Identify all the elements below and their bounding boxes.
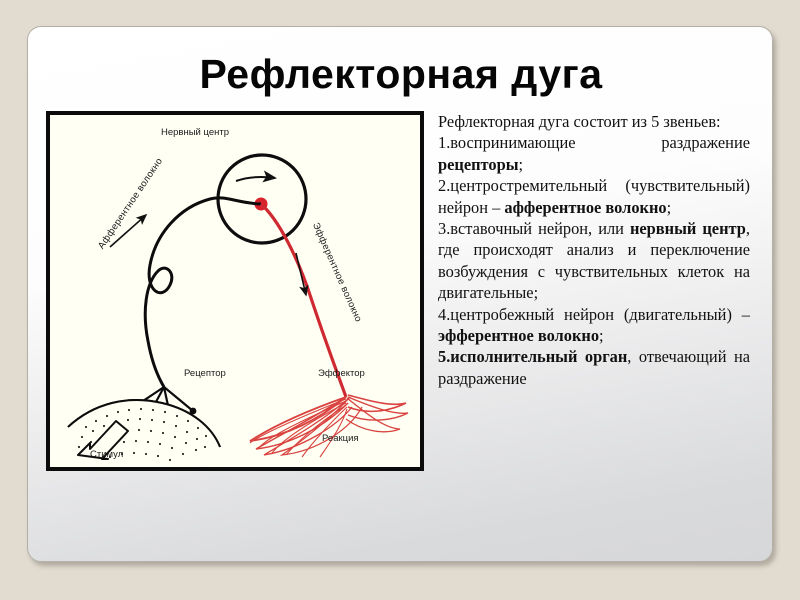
- page-title: Рефлекторная дуга: [68, 51, 734, 98]
- item-5-number: 5.: [438, 347, 450, 366]
- text-item-4: 4.центробежный нейрон (двигательный) – э…: [438, 304, 750, 347]
- diagram-label-receptor: Рецептор: [184, 368, 226, 379]
- item-4-plain-after: ;: [599, 326, 604, 345]
- text-item-5: 5.исполнительный орган, отвечающий на ра…: [438, 346, 750, 389]
- diagram-label-stimulus: Стимул: [90, 449, 123, 460]
- item-3-bold: нервный центр: [630, 219, 746, 238]
- item-5-bold: исполнительный орган: [450, 347, 627, 366]
- text-item-2: 2.центростремительный (чувствительный) н…: [438, 175, 750, 218]
- item-3-plain-before: вставочный нейрон, или: [450, 219, 630, 238]
- text-item-3: 3.вставочный нейрон, или нервный центр, …: [438, 218, 750, 304]
- slide-card: Рефлекторная дуга: [27, 26, 773, 562]
- item-1-plain-after: ;: [519, 155, 524, 174]
- item-4-number: 4.: [438, 305, 450, 324]
- description-text: Рефлекторная дуга состоит из 5 звеньев: …: [438, 111, 750, 389]
- item-2-plain-after: ;: [667, 198, 672, 217]
- item-4-plain-before: центробежный нейрон (двигательный) –: [450, 305, 750, 324]
- nerve-center-arrow-icon: [236, 177, 275, 181]
- item-1-number: 1.: [438, 133, 450, 152]
- text-item-1: 1.воспринимающие раздражение рецепторы;: [438, 132, 750, 175]
- slide-stage: Рефлекторная дуга: [0, 0, 800, 600]
- effector-muscle: [250, 395, 408, 457]
- item-4-bold: эфферентное волокно: [438, 326, 599, 345]
- reflex-arc-illustration: [50, 115, 420, 467]
- diagram-label-reaction: Реакция: [322, 433, 359, 444]
- text-intro: Рефлекторная дуга состоит из 5 звеньев:: [438, 111, 750, 132]
- item-1-plain-before: воспринимающие раздражение: [450, 133, 750, 152]
- diagram-label-nerve-center: Нервный центр: [161, 127, 229, 138]
- item-2-bold: афферентное волокно: [504, 198, 666, 217]
- reflex-arc-diagram: Нервный центр Афферентное волокно Эффере…: [46, 111, 424, 471]
- afferent-fiber-path: [145, 198, 261, 387]
- item-2-number: 2.: [438, 176, 450, 195]
- item-1-bold: рецепторы: [438, 155, 519, 174]
- efferent-direction-arrow-icon: [296, 253, 306, 295]
- item-3-number: 3.: [438, 219, 450, 238]
- diagram-label-effector: Эффектор: [318, 368, 365, 379]
